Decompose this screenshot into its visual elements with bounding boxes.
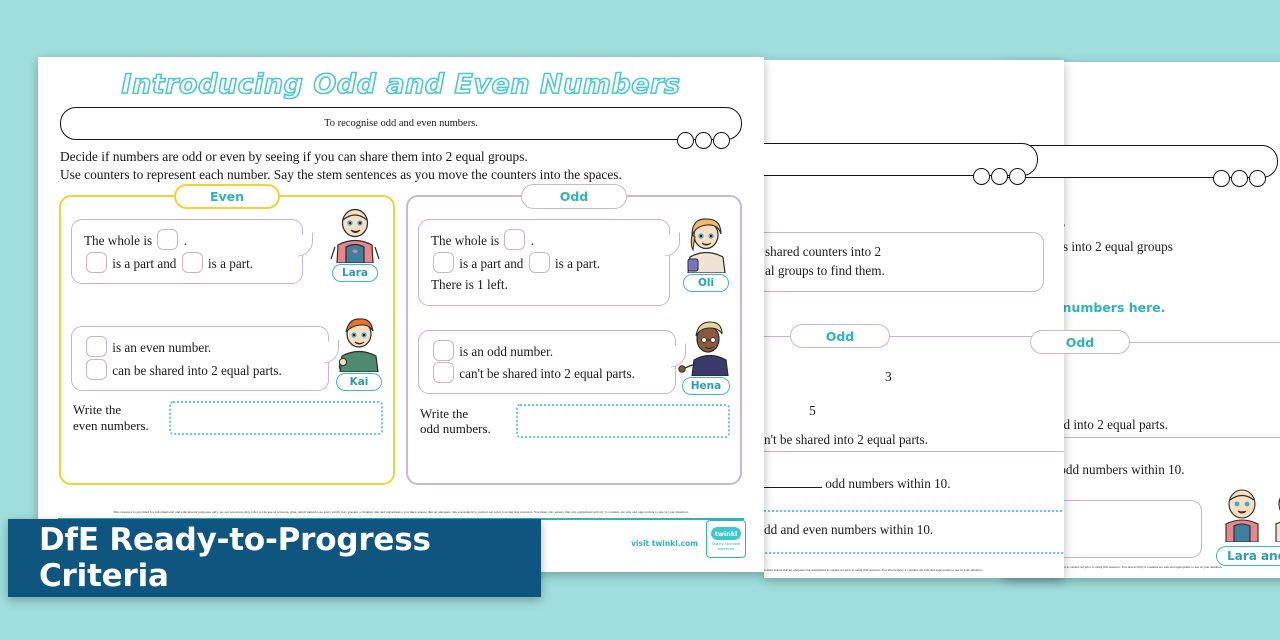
character-oli: Oli [678,217,734,292]
page1-content: Introducing Odd and Even Numbers To reco… [38,57,764,572]
page2-odd-within-10: odd numbers within 10. [764,476,951,492]
page2-content: Numbers shared counters into 2 al groups… [764,60,1038,576]
odd-stem-line-3: There is 1 left. [431,274,657,295]
page3-characters: Lara and Oli [1212,486,1280,566]
dfe-criteria-banner: DfE Ready-to-Progress Criteria [8,519,541,597]
counter-slot[interactable] [529,252,550,273]
odd-stem-row-2: is an odd number. can't be shared into 2… [418,330,730,395]
odd-def-line-2: can't be shared into 2 equal parts. [431,362,663,384]
even-def-text-2: can be shared into 2 equal parts. [112,363,282,378]
odd-stem-text-d: is a part. [555,256,600,271]
odd-stem-text-b: . [531,233,534,248]
worksheet-page-1[interactable]: Introducing Odd and Even Numbers To reco… [38,57,764,572]
bead-icon [1249,170,1266,187]
instructions: Decide if numbers are odd or even by see… [60,148,742,183]
page3-character-name-pill: Lara and Oli [1216,546,1280,566]
instruction-line-2: Use counters to represent each number. S… [60,166,742,184]
panels-row: Even The whole is . is a part and [59,195,743,485]
odd-stem-line-2: is a part and is a part. [431,252,657,274]
odd-stem-row-1: The whole is . is a part and is a part. … [418,219,730,305]
odd-stem-line-1: The whole is . [431,229,657,251]
even-stem-text-a: The whole is [84,233,152,248]
twinkl-logo: twinkl Quality Standard Approved [706,520,746,558]
bead-icon [677,132,694,149]
bead-group-icon [677,132,730,149]
bead-group-icon [1213,170,1266,187]
footer-smallprint: This resource is provided for informatio… [62,510,740,515]
bead-icon [1009,168,1026,185]
character-name-oli: Oli [683,274,729,292]
counter-slot[interactable] [433,362,454,383]
odd-write-label-line-2: odd numbers. [420,421,506,437]
even-def-line-1: is an even number. [84,336,316,358]
bubble-tail-icon [298,233,313,257]
character-kai: Kai [331,316,387,391]
page2-number-b: 5 [809,403,816,419]
odd-answer-box[interactable] [516,404,730,438]
odd-def-text-2: can't be shared into 2 equal parts. [459,366,635,381]
odd-stem-bubble-1: The whole is . is a part and is a part. … [418,219,670,305]
page2-bubble-fragment: n't be shared into 2 equal parts. [764,432,928,448]
even-stem-line-2: is a part and is a part. [84,252,290,274]
page2-title: Numbers [764,104,1038,135]
odd-def-line-1: is an odd number. [431,340,663,362]
even-stem-text-d: is a part. [208,256,253,271]
even-stem-row-2: is an even number. can be shared into 2 … [71,326,383,391]
worksheet-page-2[interactable]: Numbers shared counters into 2 al groups… [764,60,1064,578]
bead-group-icon [973,168,1026,185]
page2-intro-line-2: al groups to find them. [765,261,885,280]
page2-intro-line-1: shared counters into 2 [765,242,881,261]
even-write-label: Write the even numbers. [73,402,159,433]
bead-icon [991,168,1008,185]
even-stem-row-1: The whole is . is a part and is a part. [71,219,383,284]
even-stem-text-c: is a part and [112,256,176,271]
even-answer-box[interactable] [169,401,383,435]
page2-dashed-text: dd and even numbers within 10. [764,522,933,538]
even-stem-bubble-2: is an even number. can be shared into 2 … [71,326,329,391]
page3-odd-tab: Odd [1030,330,1130,354]
page3-objective-bar [1004,145,1278,178]
twinkl-logo-name: twinkl [711,527,741,540]
odd-stem-bubble-2: is an odd number. can't be shared into 2… [418,330,676,395]
even-panel-tab: Even [174,184,280,209]
page2-intro-bubble: shared counters into 2 al groups to find… [764,232,1044,292]
counter-slot[interactable] [433,340,454,361]
even-stem-text-b: . [184,233,187,248]
even-stem-line-1: The whole is . [84,229,290,251]
odd-panel: Odd The whole is . is a part and [406,195,742,485]
odd-write-label-line-1: Write the [420,406,506,422]
odd-stem-text-c: is a part and [459,256,523,271]
even-stem-bubble-1: The whole is . is a part and is a part. [71,219,303,284]
character-name-lara: Lara [332,264,378,282]
even-write-row: Write the even numbers. [73,401,383,435]
page2-number-a: 3 [885,369,892,385]
odd-panel-tab: Odd [521,184,627,209]
odd-def-text-1: is an odd number. [459,344,553,359]
character-hena: Hena [678,320,734,395]
counter-slot[interactable] [86,336,107,357]
bead-icon [1231,170,1248,187]
counter-slot[interactable] [182,252,203,273]
character-name-hena: Hena [682,377,730,395]
odd-stem-text-a: The whole is [431,233,499,248]
kai-avatar-icon [331,316,387,372]
even-def-text-1: is an even number. [112,340,211,355]
oli-avatar-icon [678,217,734,273]
page2-odd-tab: Odd [790,324,890,348]
page2-smallprint: u must ensure that an adequate risk asse… [764,568,1014,573]
lara-and-oli-avatar-icon [1212,486,1280,542]
counter-slot[interactable] [504,229,525,250]
page-title: Introducing Odd and Even Numbers [38,69,764,100]
twinkl-logo-sub: Quality Standard Approved [707,542,745,551]
page3-odd-within-10-text: odd numbers within 10. [1059,462,1184,477]
odd-write-label: Write the odd numbers. [420,406,506,437]
worksheet-stack: Numbers his correct? are counters into 2… [0,0,1280,640]
hena-avatar-icon [678,320,734,376]
character-name-kai: Kai [336,373,382,391]
counter-slot[interactable] [86,252,107,273]
bead-icon [713,132,730,149]
instruction-line-1: Decide if numbers are odd or even by see… [60,148,742,166]
page2-objective-bar [764,143,1038,176]
even-write-label-line-1: Write the [73,402,159,418]
counter-slot[interactable] [86,359,107,380]
dfe-criteria-banner-label: DfE Ready-to-Progress Criteria [39,522,541,594]
character-lara: Lara [327,207,383,282]
bead-icon [695,132,712,149]
page2-odd-within-10-text: odd numbers within 10. [825,476,950,491]
counter-slot[interactable] [157,229,178,250]
lara-avatar-icon [327,207,383,263]
even-def-line-2: can be shared into 2 equal parts. [84,359,316,381]
odd-write-row: Write the odd numbers. [420,404,730,438]
even-panel: Even The whole is . is a part and [59,195,395,485]
bead-icon [973,168,990,185]
counter-slot[interactable] [433,252,454,273]
even-write-label-line-2: even numbers. [73,418,159,434]
bead-icon [1213,170,1230,187]
objective-text: To recognise odd and even numbers. [60,107,742,140]
objective-bar: To recognise odd and even numbers. [60,107,742,140]
visit-link[interactable]: visit twinkl.com [631,539,698,548]
